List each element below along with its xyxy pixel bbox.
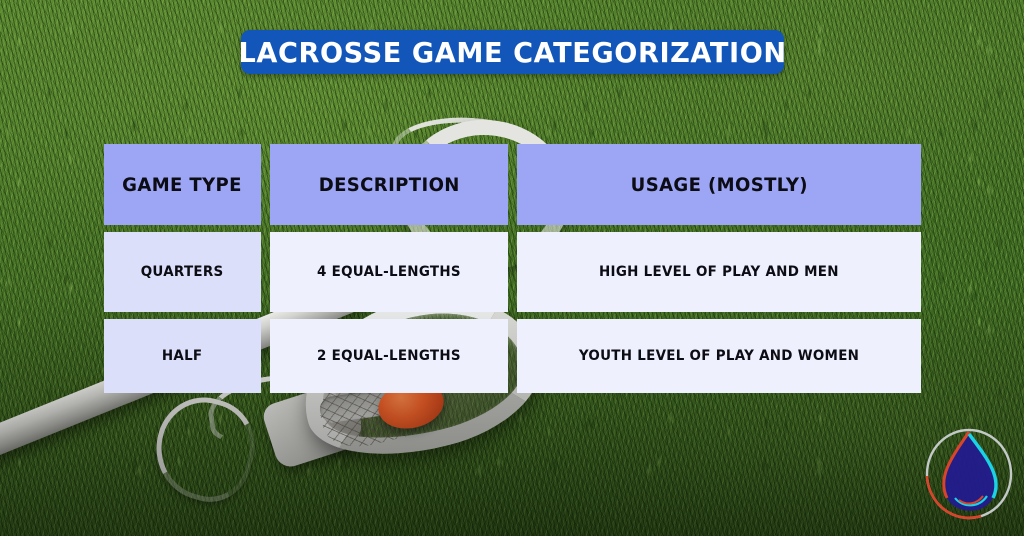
column-header-description: DESCRIPTION: [270, 144, 508, 225]
title-banner: LACROSSE GAME CATEGORIZATION: [241, 30, 784, 74]
infographic-canvas: LACROSSE GAME CATEGORIZATION GAME TYPE D…: [0, 0, 1024, 536]
table-header-row: GAME TYPE DESCRIPTION USAGE (MOSTLY): [104, 144, 921, 225]
cell-game-type-value: QUARTERS: [141, 264, 224, 280]
cell-usage: YOUTH LEVEL OF PLAY AND WOMEN: [517, 319, 921, 393]
categorization-table: GAME TYPE DESCRIPTION USAGE (MOSTLY) QUA…: [104, 144, 921, 400]
water-droplet-logo: [921, 424, 1017, 522]
cell-usage: HIGH LEVEL OF PLAY AND MEN: [517, 232, 921, 312]
cell-usage-value: YOUTH LEVEL OF PLAY AND WOMEN: [579, 348, 859, 364]
cell-description: 4 EQUAL-LENGTHS: [270, 232, 508, 312]
logo-droplet-body: [944, 432, 996, 511]
column-header-usage-label: USAGE (MOSTLY): [630, 174, 807, 196]
cell-description-value: 2 EQUAL-LENGTHS: [317, 348, 461, 364]
column-header-description-label: DESCRIPTION: [318, 174, 459, 196]
table-row: HALF 2 EQUAL-LENGTHS YOUTH LEVEL OF PLAY…: [104, 319, 921, 393]
cell-game-type: HALF: [104, 319, 261, 393]
column-header-game-type-label: GAME TYPE: [123, 174, 243, 196]
cell-game-type: QUARTERS: [104, 232, 261, 312]
page-title: LACROSSE GAME CATEGORIZATION: [238, 36, 786, 69]
cell-description-value: 4 EQUAL-LENGTHS: [317, 264, 461, 280]
column-header-usage: USAGE (MOSTLY): [517, 144, 921, 225]
cell-usage-value: HIGH LEVEL OF PLAY AND MEN: [599, 264, 839, 280]
cell-game-type-value: HALF: [162, 348, 203, 364]
column-header-game-type: GAME TYPE: [104, 144, 261, 225]
table-row: QUARTERS 4 EQUAL-LENGTHS HIGH LEVEL OF P…: [104, 232, 921, 312]
cell-description: 2 EQUAL-LENGTHS: [270, 319, 508, 393]
